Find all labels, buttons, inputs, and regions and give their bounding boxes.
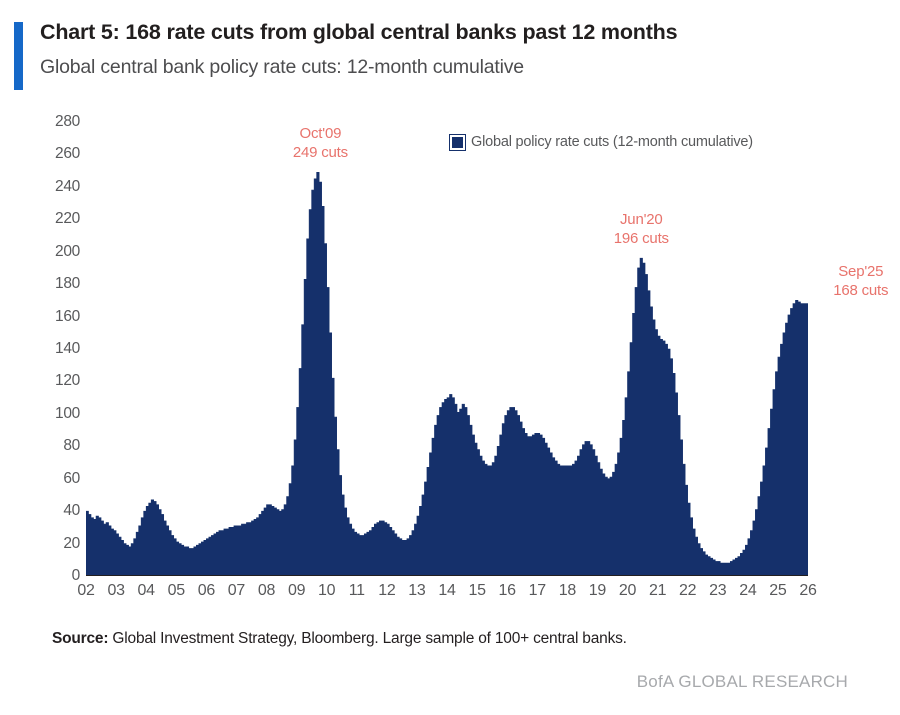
accent-bar — [14, 22, 23, 90]
y-axis-tick-label: 40 — [36, 502, 80, 520]
chart-legend: Global policy rate cuts (12-month cumula… — [450, 134, 753, 150]
y-axis-tick-label: 240 — [36, 178, 80, 196]
x-axis-tick-label: 13 — [408, 582, 425, 600]
y-axis-tick-label: 60 — [36, 470, 80, 488]
annotation-oct09-line2: 249 cuts — [293, 143, 348, 162]
y-axis-tick-label: 180 — [36, 275, 80, 293]
x-axis-tick-label: 12 — [378, 582, 395, 600]
legend-swatch-icon — [450, 135, 465, 150]
source-line: Source: Global Investment Strategy, Bloo… — [52, 630, 627, 648]
x-axis-tick-label: 05 — [168, 582, 185, 600]
page-title: Chart 5: 168 rate cuts from global centr… — [40, 20, 677, 45]
chart-container: 020406080100120140160180200220240260280 … — [0, 104, 900, 616]
legend-label: Global policy rate cuts (12-month cumula… — [471, 134, 753, 150]
y-axis-tick-label: 100 — [36, 405, 80, 423]
x-axis-tick-label: 19 — [589, 582, 606, 600]
x-axis-tick-label: 14 — [438, 582, 455, 600]
x-axis-tick-label: 07 — [228, 582, 245, 600]
x-axis-tick-label: 17 — [529, 582, 546, 600]
x-axis-tick-label: 02 — [77, 582, 94, 600]
source-text: Global Investment Strategy, Bloomberg. L… — [112, 630, 626, 647]
y-axis-tick-label: 280 — [36, 113, 80, 131]
x-axis-tick-label: 24 — [739, 582, 756, 600]
annotation-jun20: Jun'20 196 cuts — [614, 210, 669, 248]
chart-header: Chart 5: 168 rate cuts from global centr… — [0, 18, 900, 94]
y-axis-tick-label: 200 — [36, 243, 80, 261]
annotation-jun20-line2: 196 cuts — [614, 229, 669, 248]
y-axis: 020406080100120140160180200220240260280 — [30, 122, 80, 576]
x-axis-tick-label: 21 — [649, 582, 666, 600]
y-axis-tick-label: 80 — [36, 437, 80, 455]
area-chart-svg — [86, 122, 808, 576]
x-axis-tick-label: 06 — [198, 582, 215, 600]
y-axis-tick-label: 140 — [36, 340, 80, 358]
y-axis-tick-label: 20 — [36, 535, 80, 553]
source-label: Source: — [52, 630, 108, 647]
plot-area — [86, 122, 808, 576]
y-axis-tick-label: 160 — [36, 308, 80, 326]
research-attribution: BofA GLOBAL RESEARCH — [637, 672, 848, 692]
x-axis-tick-label: 22 — [679, 582, 696, 600]
x-axis-tick-label: 11 — [349, 582, 365, 600]
x-axis-tick-label: 18 — [559, 582, 576, 600]
annotation-oct09: Oct'09 249 cuts — [293, 124, 348, 162]
x-axis-tick-label: 10 — [318, 582, 335, 600]
x-axis-tick-label: 26 — [799, 582, 816, 600]
page-subtitle: Global central bank policy rate cuts: 12… — [40, 56, 524, 79]
x-axis-tick-label: 04 — [138, 582, 155, 600]
y-axis-tick-label: 120 — [36, 372, 80, 390]
annotation-sep25-line1: Sep'25 — [838, 263, 883, 280]
x-axis-tick-label: 23 — [709, 582, 726, 600]
annotation-sep25: Sep'25 168 cuts — [833, 262, 888, 300]
x-axis-tick-label: 08 — [258, 582, 275, 600]
series-area-global-policy-rate-cuts — [86, 172, 808, 576]
chart-page: Chart 5: 168 rate cuts from global centr… — [0, 0, 900, 715]
annotation-sep25-line2: 168 cuts — [833, 281, 888, 300]
y-axis-tick-label: 0 — [36, 567, 80, 585]
x-axis-tick-label: 15 — [468, 582, 485, 600]
x-axis-tick-label: 09 — [288, 582, 305, 600]
x-axis-tick-label: 16 — [499, 582, 516, 600]
y-axis-tick-label: 220 — [36, 210, 80, 228]
x-axis-tick-label: 20 — [619, 582, 636, 600]
annotation-jun20-line1: Jun'20 — [620, 211, 663, 228]
annotation-oct09-line1: Oct'09 — [300, 125, 342, 142]
x-axis-tick-label: 25 — [769, 582, 786, 600]
y-axis-tick-label: 260 — [36, 145, 80, 163]
x-axis-tick-label: 03 — [107, 582, 124, 600]
x-axis: 0203040506070809101112131415161718192021… — [86, 582, 808, 608]
